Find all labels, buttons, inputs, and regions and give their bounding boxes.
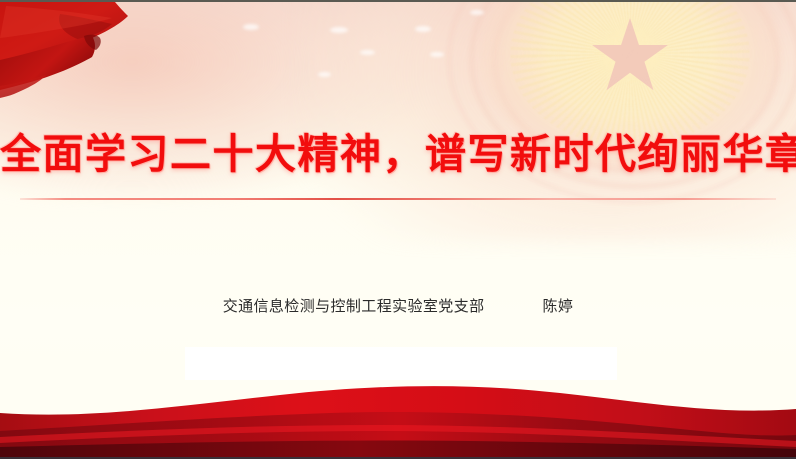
decor-fleck <box>318 72 331 77</box>
department-label: 交通信息检测与控制工程实验室党支部 <box>223 295 485 316</box>
presentation-slide: 全面学习二十大精神，谱写新时代绚丽华章 交通信息检测与控制工程实验室党支部陈婷 <box>0 0 796 459</box>
decor-fleck <box>360 50 375 55</box>
decor-fleck <box>330 27 348 33</box>
presenter-name: 陈婷 <box>543 295 574 316</box>
page-title: 全面学习二十大精神，谱写新时代绚丽华章 <box>0 130 796 178</box>
decor-fleck <box>470 10 484 15</box>
decor-fleck <box>430 52 444 57</box>
red-flag-ribbon <box>0 2 230 122</box>
decor-fleck <box>243 24 259 30</box>
title-divider <box>20 198 776 200</box>
decor-fleck <box>415 26 431 32</box>
subtitle-row: 交通信息检测与控制工程实验室党支部陈婷 <box>0 295 796 316</box>
slide-title-block: 全面学习二十大精神，谱写新时代绚丽华章 <box>0 130 796 178</box>
red-wave-ribbon <box>0 367 796 457</box>
star-sunburst-emblem <box>455 0 796 214</box>
